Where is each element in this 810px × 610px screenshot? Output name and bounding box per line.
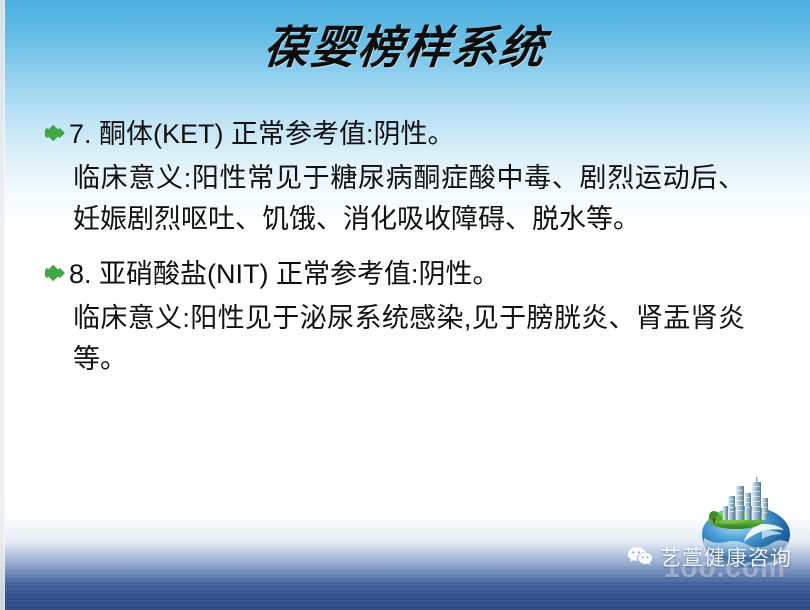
- block-headline: 7. 酮体(KET) 正常参考值:阴性。: [69, 114, 455, 154]
- content-block: 7. 酮体(KET) 正常参考值:阴性。 临床意义:阳性常见于糖尿病酮症酸中毒、…: [45, 114, 765, 240]
- bullet-headline-row: 8. 亚硝酸盐(NIT) 正常参考值:阴性。: [45, 254, 765, 296]
- slide-canvas: 葆婴榜样系统 7. 酮体(KET) 正常参考值:阴性。: [0, 0, 810, 610]
- block-paragraph: 临床意义:阳性见于泌尿系统感染,见于膀胱炎、肾盂肾炎等。: [73, 298, 745, 380]
- slide-title: 葆婴榜样系统: [261, 22, 548, 74]
- wechat-badge: 艺萱健康咨询: [627, 542, 792, 572]
- background-left-edge-strip: [0, 0, 5, 610]
- green-diamond-bullet-icon: [45, 254, 69, 296]
- slide-title-area: 葆婴榜样系统: [0, 22, 810, 74]
- block-paragraph: 临床意义:阳性常见于糖尿病酮症酸中毒、剧烈运动后、妊娠剧烈呕吐、饥饿、消化吸收障…: [73, 158, 745, 240]
- content-block: 8. 亚硝酸盐(NIT) 正常参考值:阴性。 临床意义:阳性见于泌尿系统感染,见…: [45, 254, 765, 380]
- block-headline: 8. 亚硝酸盐(NIT) 正常参考值:阴性。: [69, 254, 500, 294]
- block-spacer: [45, 244, 765, 254]
- green-diamond-bullet-icon: [45, 114, 69, 156]
- wechat-label: 艺萱健康咨询: [660, 542, 792, 572]
- slide-body: 7. 酮体(KET) 正常参考值:阴性。 临床意义:阳性常见于糖尿病酮症酸中毒、…: [45, 114, 765, 384]
- wechat-icon: [627, 546, 653, 568]
- bullet-headline-row: 7. 酮体(KET) 正常参考值:阴性。: [45, 114, 765, 156]
